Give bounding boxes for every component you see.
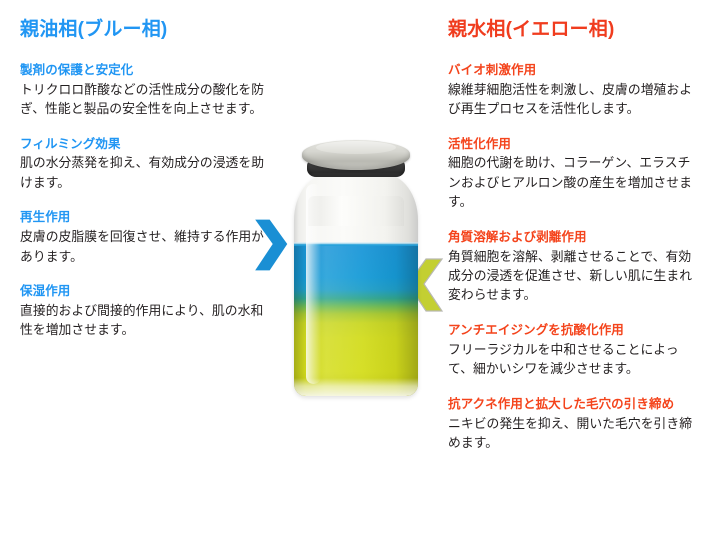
- left-section-3-heading: 再生作用: [20, 209, 265, 226]
- chevron-right-icon: [252, 217, 292, 273]
- hydrophilic-phase-column: 親水相(イエロー相) バイオ刺激作用 線維芽細胞活性を刺激し、皮膚の増殖および再…: [448, 0, 700, 543]
- two-phase-vial-illustration: [252, 130, 462, 400]
- right-section-3-heading: 角質溶解および剥離作用: [448, 229, 700, 246]
- right-section-5-heading: 抗アクネ作用と拡大した毛穴の引き締め: [448, 396, 700, 413]
- right-section-2: 活性化作用 細胞の代謝を助け、コラーゲン、エラスチンおよびヒアルロン酸の産生を増…: [448, 136, 700, 212]
- right-section-1-heading: バイオ刺激作用: [448, 62, 700, 79]
- right-section-2-body: 細胞の代謝を助け、コラーゲン、エラスチンおよびヒアルロン酸の産生を増加させます。: [448, 153, 700, 211]
- left-section-2-body: 肌の水分蒸発を抑え、有効成分の浸透を助けます。: [20, 153, 265, 192]
- right-section-4-body: フリーラジカルを中和させることによって、細かいシワを減少させます。: [448, 340, 700, 379]
- right-section-4-heading: アンチエイジングを抗酸化作用: [448, 322, 700, 339]
- lipophilic-phase-column: 親油相(ブルー相) 製剤の保護と安定化 トリクロロ酢酸などの活性成分の酸化を防ぎ…: [20, 0, 265, 543]
- right-section-4: アンチエイジングを抗酸化作用 フリーラジカルを中和させることによって、細かいシワ…: [448, 322, 700, 379]
- left-column-title: 親油相(ブルー相): [20, 19, 265, 42]
- right-section-1: バイオ刺激作用 線維芽細胞活性を刺激し、皮膚の増殖および再生プロセスを活性化しま…: [448, 62, 700, 119]
- vial-glass-body: [294, 174, 418, 396]
- vial: [294, 138, 418, 396]
- left-section-4: 保湿作用 直接的および間接的作用により、肌の水和性を増加させます。: [20, 283, 265, 340]
- left-section-1-heading: 製剤の保護と安定化: [20, 62, 265, 79]
- left-section-4-heading: 保湿作用: [20, 283, 265, 300]
- left-section-3-body: 皮膚の皮脂膜を回復させ、維持する作用があります。: [20, 227, 265, 266]
- left-section-2-heading: フィルミング効果: [20, 136, 265, 153]
- right-section-3-body: 角質細胞を溶解、剥離させることで、有効成分の浸透を促進させ、新しい肌に生まれ変わ…: [448, 247, 700, 305]
- left-section-1-body: トリクロロ酢酸などの活性成分の酸化を防ぎ、性能と製品の安全性を向上させます。: [20, 80, 265, 119]
- right-section-1-body: 線維芽細胞活性を刺激し、皮膚の増殖および再生プロセスを活性化します。: [448, 80, 700, 119]
- vial-glass-highlight: [306, 184, 321, 384]
- right-column-title: 親水相(イエロー相): [448, 19, 700, 42]
- right-section-2-heading: 活性化作用: [448, 136, 700, 153]
- vial-cap-highlight: [316, 141, 396, 154]
- right-section-5: 抗アクネ作用と拡大した毛穴の引き締め ニキビの発生を抑え、開いた毛穴を引き締めま…: [448, 396, 700, 453]
- right-section-5-body: ニキビの発生を抑え、開いた毛穴を引き締めます。: [448, 414, 700, 453]
- right-section-3: 角質溶解および剥離作用 角質細胞を溶解、剥離させることで、有効成分の浸透を促進さ…: [448, 229, 700, 305]
- vial-metal-cap: [302, 140, 410, 170]
- vial-shoulder: [308, 196, 404, 226]
- left-section-3: 再生作用 皮膚の皮脂膜を回復させ、維持する作用があります。: [20, 209, 265, 266]
- infographic-canvas: 親油相(ブルー相) 製剤の保護と安定化 トリクロロ酢酸などの活性成分の酸化を防ぎ…: [0, 0, 709, 543]
- left-section-1: 製剤の保護と安定化 トリクロロ酢酸などの活性成分の酸化を防ぎ、性能と製品の安全性…: [20, 62, 265, 119]
- left-section-4-body: 直接的および間接的作用により、肌の水和性を増加させます。: [20, 301, 265, 340]
- left-section-2: フィルミング効果 肌の水分蒸発を抑え、有効成分の浸透を助けます。: [20, 136, 265, 193]
